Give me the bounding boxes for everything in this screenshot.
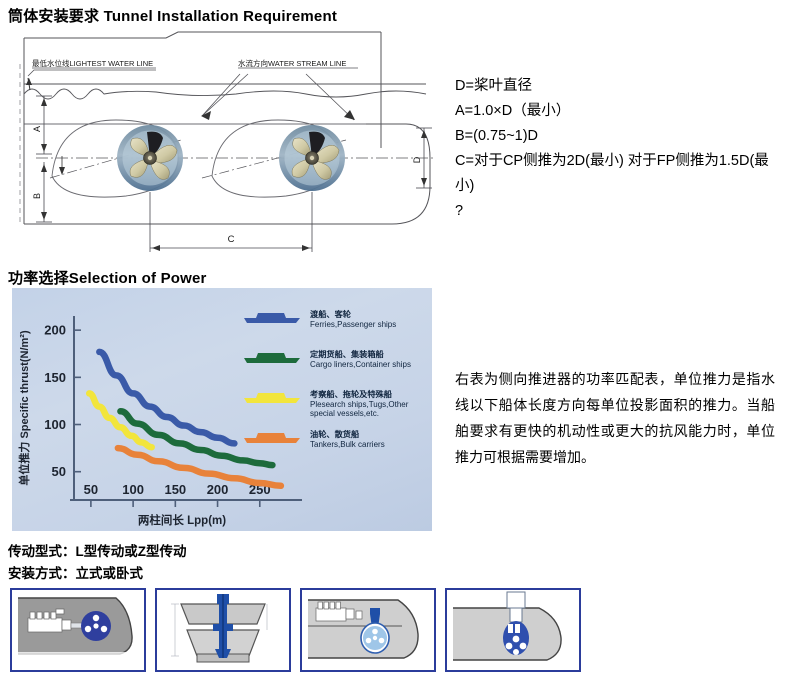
legend-label-en: Cargo liners,Container ships <box>310 360 411 369</box>
spec-line-extra: ? <box>455 199 785 224</box>
spec-line-a: A=1.0×D（最小） <box>455 99 785 124</box>
spec-line-c: C=对于CP侧推为2D(最小) 对于FP侧推为1.5D(最小) <box>455 149 785 199</box>
label-water-stream-line: 水流方向WATER STREAM LINE <box>238 58 346 68</box>
x-tick-100: 100 <box>122 482 144 497</box>
y-tick-200: 200 <box>44 323 66 338</box>
legend-label-en: Plesearch ships,Tugs,Other <box>310 400 409 409</box>
power-selection-note: 右表为侧向推进器的功率匹配表，单位推力是指水线以下船体长度方向每单位投影面积的推… <box>455 366 775 470</box>
dimension-label-a: A <box>32 126 42 132</box>
legend-label-cn: 油轮、散货船 <box>310 429 360 439</box>
thumbnail-horizontal-l-drive[interactable] <box>10 588 146 672</box>
legend-ship-icon <box>244 433 300 443</box>
page-title-selection-of-power: 功率选择Selection of Power <box>8 267 207 288</box>
y-tick-150: 150 <box>44 370 66 385</box>
transmission-type-line: 传动型式：L型传动或Z型传动 <box>8 540 187 560</box>
legend-item-1: 渡船、客轮Ferries,Passenger ships <box>244 309 396 329</box>
y-tick-100: 100 <box>44 417 66 432</box>
legend-ship-icon <box>244 393 300 403</box>
chart-legend: 渡船、客轮Ferries,Passenger ships定期货船、集装箱船Car… <box>244 309 411 449</box>
dimension-label-d: D <box>412 156 422 163</box>
legend-label-cn: 考察船、拖轮及特殊船 <box>310 389 393 399</box>
thumbnail-horizontal-engine-tunnel-thruster[interactable] <box>300 588 436 672</box>
chart-curve-4 <box>118 448 281 486</box>
x-tick-50: 50 <box>84 482 98 497</box>
dimension-label-c: C <box>228 234 235 245</box>
tunnel-installation-drawing: 最低水位线LIGHTEST WATER LINE 水流方向WATER STREA… <box>6 28 446 260</box>
spec-line-d: D=桨叶直径 <box>455 74 785 99</box>
legend-ship-icon <box>244 353 300 363</box>
chart-series-layer <box>89 352 281 486</box>
legend-label-cn: 定期货船、集装箱船 <box>309 349 385 359</box>
legend-ship-icon <box>244 313 300 323</box>
mounting-type-line: 安装方式：立式或卧式 <box>8 562 143 582</box>
dimension-label-b: B <box>32 193 42 199</box>
legend-item-3: 考察船、拖轮及特殊船Plesearch ships,Tugs,Otherspec… <box>244 389 409 418</box>
thumbnail-vertical-mounted-thruster[interactable] <box>445 588 581 672</box>
label-lightest-water-line: 最低水位线LIGHTEST WATER LINE <box>32 58 153 68</box>
legend-label-en: Ferries,Passenger ships <box>310 320 396 329</box>
x-tick-200: 200 <box>207 482 229 497</box>
thumbnail-vertical-z-drive-section[interactable] <box>155 588 291 672</box>
page-title-tunnel-installation: 筒体安装要求 Tunnel Installation Requirement <box>8 5 337 26</box>
x-tick-150: 150 <box>164 482 186 497</box>
legend-label-en: special vessels,etc. <box>310 409 379 418</box>
spec-line-b: B=(0.75~1)D <box>455 124 785 149</box>
y-axis-label: 单位推力 Specific thrust(N/m²) <box>17 330 31 486</box>
specific-thrust-chart: 5010015020050100150200250 渡船、客轮Ferries,P… <box>12 288 432 531</box>
y-tick-50: 50 <box>52 464 66 479</box>
legend-item-4: 油轮、散货船Tankers,Bulk carriers <box>244 429 385 449</box>
legend-label-en: Tankers,Bulk carriers <box>310 440 385 449</box>
tunnel-spec-list: D=桨叶直径 A=1.0×D（最小） B=(0.75~1)D C=对于CP侧推为… <box>455 74 785 224</box>
x-axis-label: 两柱间长 Lpp(m) <box>138 513 226 527</box>
legend-label-cn: 渡船、客轮 <box>310 309 352 319</box>
legend-item-2: 定期货船、集装箱船Cargo liners,Container ships <box>244 349 411 369</box>
